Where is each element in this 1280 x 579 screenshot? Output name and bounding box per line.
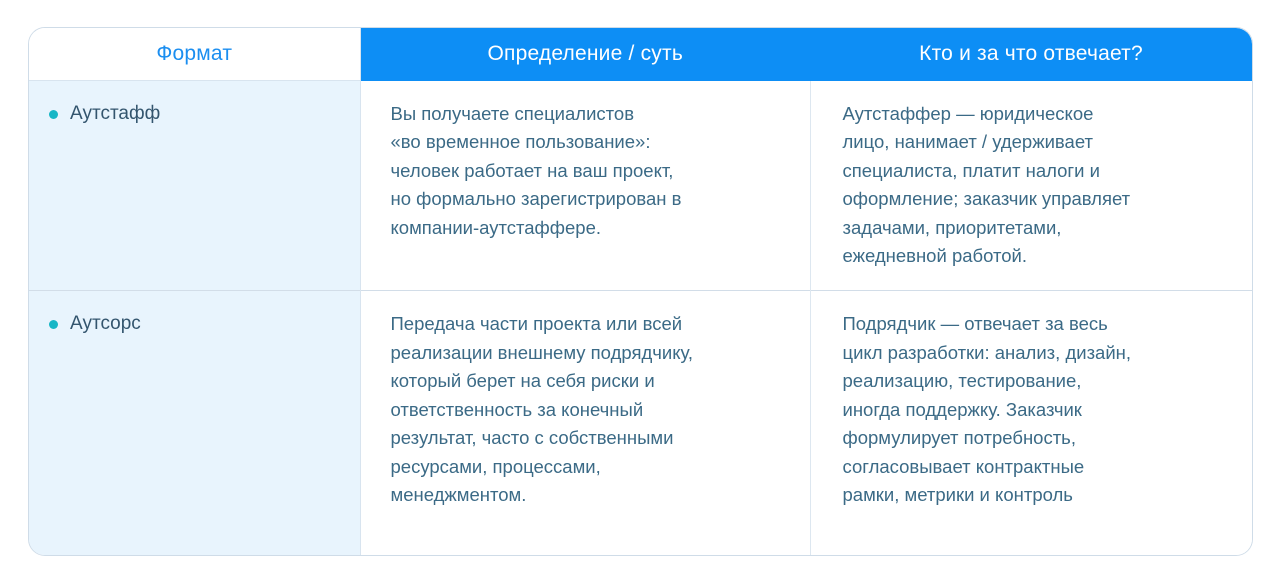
table-header: Формат Определение / суть Кто и за что о… (29, 28, 1252, 81)
column-header-format-label: Формат (29, 28, 360, 80)
cell-definition-outsource: Передача части проекта или всей реализац… (360, 291, 810, 557)
bullet-dot-icon (49, 110, 58, 119)
definition-text: Передача части проекта или всей реализац… (361, 291, 810, 528)
cell-format-outsource: Аутсорс (29, 291, 360, 557)
format-label: Аутсорс (70, 312, 141, 336)
responsibility-text: Аутстаффер — юридическое лицо, нанимает … (811, 81, 1253, 289)
cell-responsibility-outsource: Подрядчик — отвечает за весь цикл разраб… (810, 291, 1252, 557)
table-header-row: Формат Определение / суть Кто и за что о… (29, 28, 1252, 81)
table-body: Аутстафф Вы получаете специалистов «во в… (29, 81, 1252, 557)
cell-definition-outstaff: Вы получаете специалистов «во временное … (360, 81, 810, 291)
table-row: Аутстафф Вы получаете специалистов «во в… (29, 81, 1252, 291)
column-header-responsibility: Кто и за что отвечает? (810, 28, 1252, 81)
comparison-table: Формат Определение / суть Кто и за что о… (29, 28, 1252, 556)
definition-text: Вы получаете специалистов «во временное … (361, 81, 810, 261)
comparison-table-card: Формат Определение / суть Кто и за что о… (28, 27, 1253, 556)
column-header-definition: Определение / суть (360, 28, 810, 81)
format-label: Аутстафф (70, 102, 160, 126)
bullet-dot-icon (49, 320, 58, 329)
table-row: Аутсорс Передача части проекта или всей … (29, 291, 1252, 557)
column-header-definition-label: Определение / суть (361, 28, 811, 80)
column-header-format: Формат (29, 28, 360, 81)
format-label-wrap: Аутсорс (29, 291, 360, 336)
format-label-wrap: Аутстафф (29, 81, 360, 126)
page-root: Формат Определение / суть Кто и за что о… (0, 0, 1280, 579)
cell-format-outstaff: Аутстафф (29, 81, 360, 291)
responsibility-text: Подрядчик — отвечает за весь цикл разраб… (811, 291, 1253, 528)
cell-responsibility-outstaff: Аутстаффер — юридическое лицо, нанимает … (810, 81, 1252, 291)
column-header-responsibility-label: Кто и за что отвечает? (810, 28, 1252, 80)
